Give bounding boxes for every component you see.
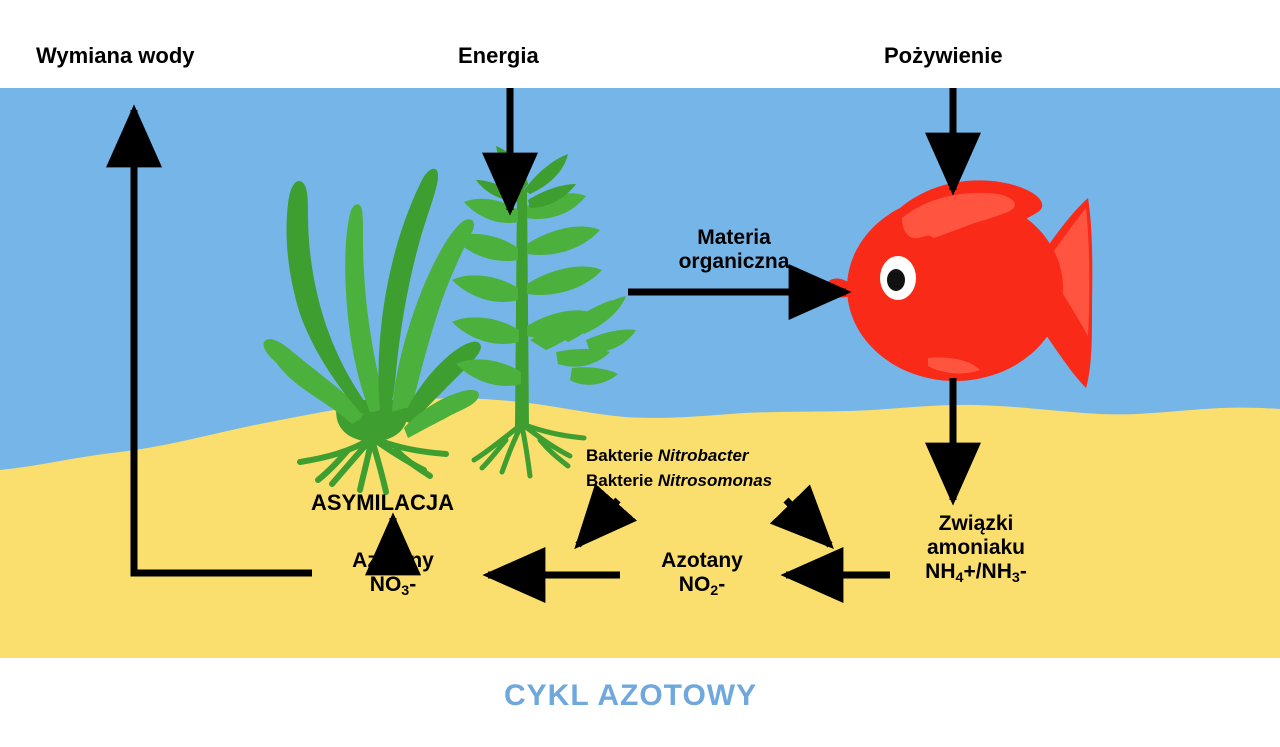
- assimilation-label: ASYMILACJA: [311, 491, 454, 516]
- bacteria-label-nitrobacter: Bakterie Nitrobacter: [586, 446, 749, 465]
- organic-matter-line1: Materia: [664, 226, 804, 250]
- diagram-title: CYKL AZOTOWY: [504, 679, 757, 713]
- compound-nitrates-name: Azotany: [333, 549, 453, 573]
- bacteria-prefix-2: Bakterie: [586, 471, 658, 490]
- ammonia-formula-b-sub: 3: [1012, 570, 1020, 586]
- nitrates-formula-prefix: NO: [370, 573, 402, 596]
- compound-nitrites: Azotany NO2-: [642, 549, 762, 600]
- compound-ammonia: Związki amoniaku NH4+/NH3-: [896, 512, 1056, 587]
- input-label-food: Pożywienie: [884, 44, 1003, 69]
- ammonia-formula: NH4+/NH3-: [896, 560, 1056, 586]
- organic-matter-label: Materia organiczna: [664, 226, 804, 274]
- ammonia-formula-a-suffix: +/NH: [963, 560, 1011, 583]
- bacteria-label-nitrosomonas: Bakterie Nitrosomonas: [586, 471, 772, 490]
- nitrates-formula-suffix: -: [409, 573, 416, 596]
- input-label-water-exchange: Wymiana wody: [36, 44, 195, 69]
- organic-matter-line2: organiczna: [664, 250, 804, 274]
- ammonia-name-line2: amoniaku: [896, 536, 1056, 560]
- bacteria-species-1: Nitrobacter: [658, 446, 749, 465]
- compound-nitrates: Azotany NO3-: [333, 549, 453, 600]
- nitrites-formula-prefix: NO: [679, 573, 711, 596]
- nitrites-formula-suffix: -: [718, 573, 725, 596]
- input-label-energy: Energia: [458, 44, 539, 69]
- bacteria-prefix-1: Bakterie: [586, 446, 658, 465]
- nitrogen-cycle-diagram: Wymiana wody Energia Pożywienie Materia …: [0, 0, 1280, 747]
- ammonia-formula-b-suffix: -: [1020, 560, 1027, 583]
- compound-nitrites-name: Azotany: [642, 549, 762, 573]
- compound-nitrites-formula: NO2-: [642, 573, 762, 599]
- bacteria-species-2: Nitrosomonas: [658, 471, 772, 490]
- ammonia-formula-a-prefix: NH: [925, 560, 955, 583]
- scene-canvas: [0, 0, 1280, 747]
- compound-nitrates-formula: NO3-: [333, 573, 453, 599]
- ammonia-name-line1: Związki: [896, 512, 1056, 536]
- fish-eye-pupil: [887, 269, 905, 291]
